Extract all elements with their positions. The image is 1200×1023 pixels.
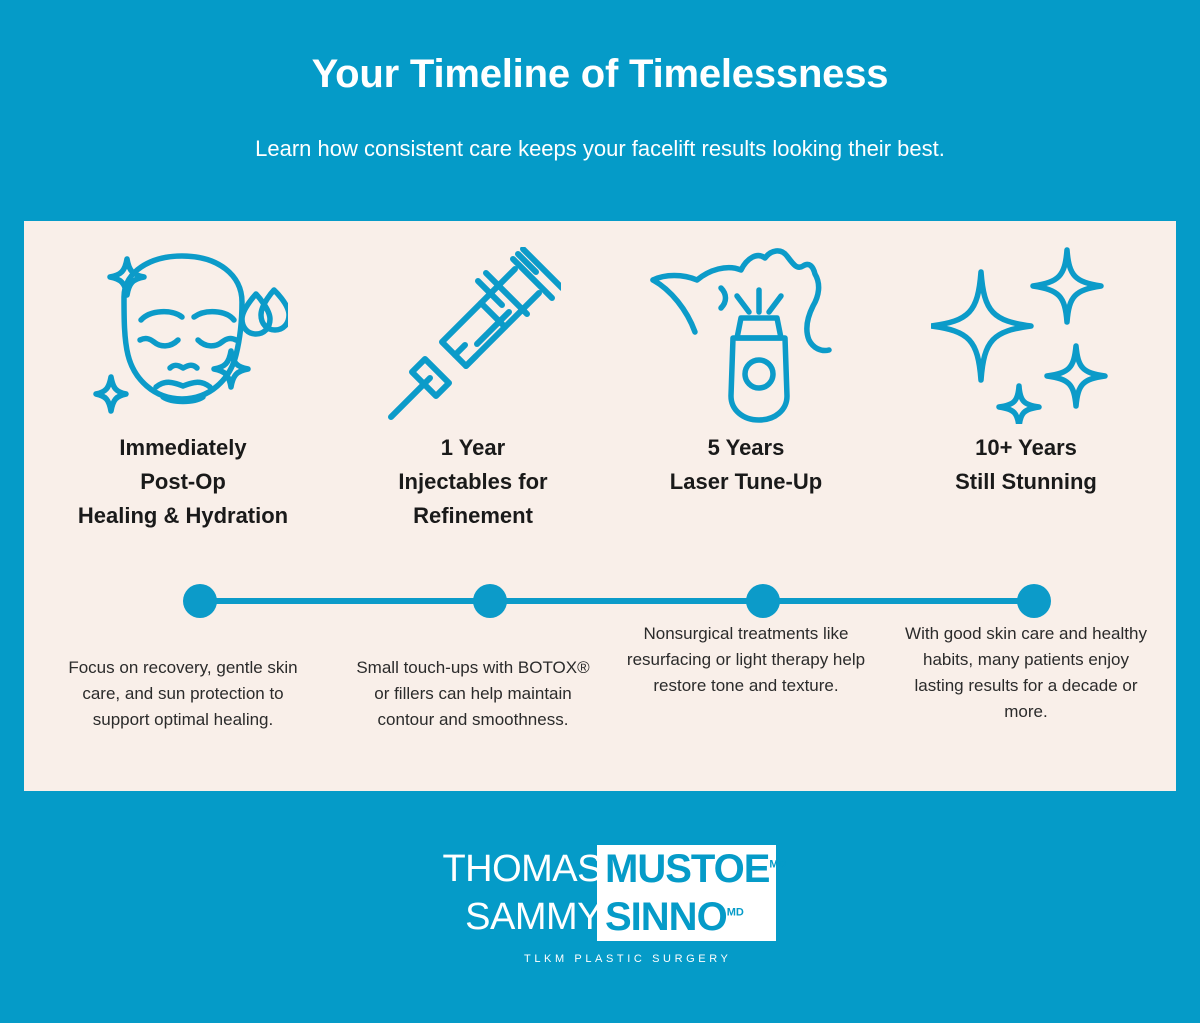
timeline-stage-1: Immediately Post-Op Healing & Hydration … <box>44 221 322 791</box>
stage-heading-line: Injectables for <box>340 465 606 499</box>
logo-last-name-1-text: MUSTOE <box>605 847 769 891</box>
page-subtitle: Learn how consistent care keeps your fac… <box>0 136 1200 162</box>
logo-first-name-1: THOMAS <box>442 850 602 888</box>
timeline-dot-2[interactable] <box>473 584 507 618</box>
stage-heading: 10+ Years Still Stunning <box>887 431 1165 499</box>
logo-first-name-2: SAMMY <box>465 898 602 936</box>
stage-heading-line: Immediately <box>50 431 316 465</box>
logo-tagline: TLKM PLASTIC SURGERY <box>524 953 776 965</box>
stage-heading-line: 1 Year <box>340 431 606 465</box>
logo-md-suffix-1: MD <box>769 859 786 871</box>
stage-heading-line: Still Stunning <box>893 465 1159 499</box>
timeline-card: Immediately Post-Op Healing & Hydration … <box>24 221 1176 791</box>
timeline-stage-3: 5 Years Laser Tune-Up Nonsurgical treatm… <box>607 221 885 791</box>
stage-heading-line: Healing & Hydration <box>50 499 316 533</box>
syringe-icon <box>334 221 612 431</box>
stage-heading-line: 5 Years <box>613 431 879 465</box>
stage-heading: Immediately Post-Op Healing & Hydration <box>44 431 322 533</box>
timeline-dot-3[interactable] <box>746 584 780 618</box>
sparkles-icon <box>887 221 1165 431</box>
logo-md-suffix-2: MD <box>727 907 744 919</box>
face-sparkle-droplet-icon <box>44 221 322 431</box>
page-title: Your Timeline of Timelessness <box>0 52 1200 96</box>
stage-heading-line: Refinement <box>340 499 606 533</box>
stage-heading-line: 10+ Years <box>893 431 1159 465</box>
logo-last-name-2-text: SINNO <box>605 895 727 939</box>
logo-last-name-2: SINNOMD <box>602 897 776 937</box>
header: Your Timeline of Timelessness Learn how … <box>0 0 1200 162</box>
stage-heading: 5 Years Laser Tune-Up <box>607 431 885 499</box>
practice-logo: THOMAS MUSTOEMD SAMMY SINNOMD TLKM PLAST… <box>0 845 1200 965</box>
logo-last-name-1: MUSTOEMD <box>602 849 776 889</box>
timeline-stage-4: 10+ Years Still Stunning With good skin … <box>887 221 1165 791</box>
stage-heading-line: Laser Tune-Up <box>613 465 879 499</box>
logo-line-1: THOMAS MUSTOEMD <box>424 845 776 893</box>
stage-body: Focus on recovery, gentle skin care, and… <box>44 655 322 733</box>
stage-heading-line: Post-Op <box>50 465 316 499</box>
timeline-rail <box>183 584 1051 618</box>
stage-body: With good skin care and healthy habits, … <box>887 621 1165 725</box>
timeline-connector-line <box>200 598 1034 604</box>
stage-body: Small touch-ups with BOTOX® or fillers c… <box>334 655 612 733</box>
timeline-dot-4[interactable] <box>1017 584 1051 618</box>
logo-line-2: SAMMY SINNOMD <box>424 893 776 941</box>
logo-wordmark: THOMAS MUSTOEMD SAMMY SINNOMD TLKM PLAST… <box>424 845 776 965</box>
timeline-dot-1[interactable] <box>183 584 217 618</box>
laser-device-icon <box>607 221 885 431</box>
timeline-stage-2: 1 Year Injectables for Refinement Small … <box>334 221 612 791</box>
stage-body: Nonsurgical treatments like resurfacing … <box>607 621 885 699</box>
stage-heading: 1 Year Injectables for Refinement <box>334 431 612 533</box>
timeline-columns: Immediately Post-Op Healing & Hydration … <box>24 221 1176 791</box>
